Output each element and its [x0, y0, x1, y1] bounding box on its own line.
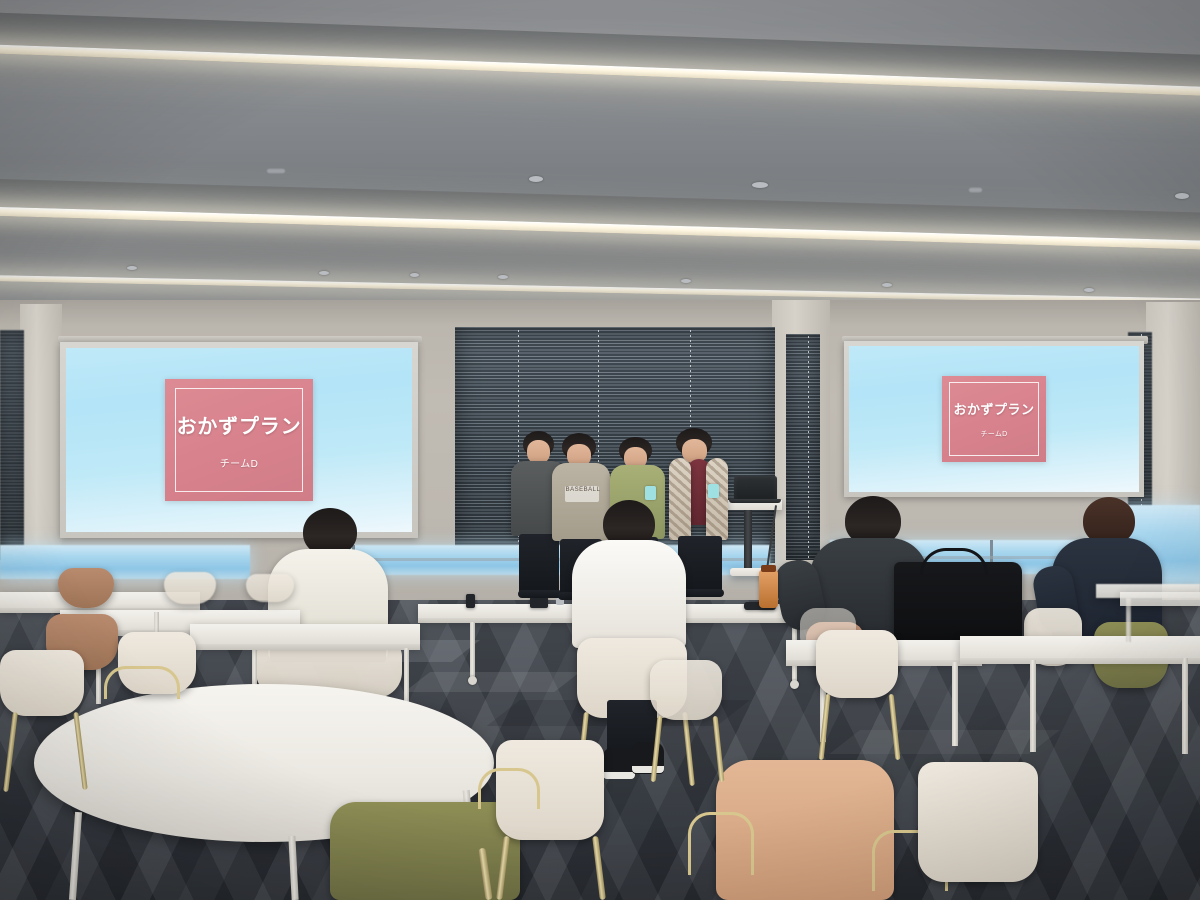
ceiling-downlight: [882, 283, 892, 287]
table-right-edge: [1120, 592, 1200, 606]
wall-pier-left: [20, 304, 62, 570]
table-caster: [790, 680, 799, 689]
table-leg: [952, 662, 958, 746]
table-leg: [1182, 658, 1188, 754]
ceiling-downlight: [410, 273, 419, 277]
shoe-sole: [632, 766, 664, 773]
chair-armrest: [478, 768, 540, 809]
left-projection-screen: おかずプラン チームD: [60, 342, 418, 538]
right-screen-surface: おかずプラン チームD: [849, 346, 1139, 492]
device-on-table: [530, 597, 548, 608]
right-projection-screen: おかずプラン チームD: [844, 341, 1144, 497]
chair-cream-right-1: [816, 630, 898, 698]
presenter-1-legs: [519, 534, 559, 594]
ceiling-downlight: [1175, 193, 1189, 199]
slide-title-right: おかずプラン: [953, 399, 1034, 418]
ceiling-sprinkler-head: [266, 168, 286, 174]
chair-armrest: [104, 666, 180, 699]
smartphone-on-table: [466, 594, 475, 608]
table-leg: [470, 622, 475, 678]
shoe-sole: [603, 772, 635, 779]
laptop-base: [729, 499, 781, 503]
chair-cream-rear: [246, 574, 294, 602]
ceiling-sprinkler-head: [968, 187, 983, 193]
wall-top-shadow: [0, 300, 1200, 326]
slide-card-right: おかずプラン チームD: [942, 376, 1046, 462]
blind-cord: [808, 336, 809, 558]
window-blinds-column: [786, 334, 820, 560]
ceiling-downlight: [681, 279, 691, 283]
chair-armrest: [688, 812, 754, 875]
slide-inner-border-left: おかずプラン チームD: [175, 388, 302, 493]
slide-subtitle-left: チームD: [220, 455, 259, 470]
table-caster: [468, 676, 477, 685]
slide-title-left: おかずプラン: [177, 410, 302, 439]
carpet-tile-accent: [404, 672, 580, 692]
carpet-tile-accent: [829, 730, 1060, 754]
ceiling-downlight: [127, 266, 137, 270]
ceiling-downlight: [319, 271, 329, 275]
chair-cream-far-left-rear: [164, 572, 216, 604]
conference-room-photo: おかずプラン チームD おかずプラン チームD: [0, 0, 1200, 900]
drink-bottle: [759, 570, 778, 608]
presenter-2-graphic-text: BASEBALL: [563, 486, 603, 494]
left-screen-surface: おかずプラン チームD: [66, 348, 412, 532]
chair-cream-right-2: [918, 762, 1038, 882]
ceiling-downlight: [498, 275, 508, 279]
window-blinds-left: [0, 330, 24, 560]
lectern-post: [744, 510, 752, 570]
chair-olive-front: [330, 802, 520, 900]
presenter-4-name-badge: [708, 484, 719, 498]
ceiling-downlight: [529, 176, 543, 182]
table-left-front: [190, 624, 420, 646]
chair-cream-left-1: [0, 650, 84, 716]
slide-card-left: おかずプラン チームD: [165, 379, 313, 501]
chair-cream-rear-center: [650, 660, 722, 720]
presenter-4-outer-shirt-left: [669, 458, 691, 540]
slide-inner-border-right: おかずプラン チームD: [949, 382, 1038, 456]
table-right-front-2: [960, 636, 1200, 660]
audience-2-torso: [572, 540, 686, 648]
slide-subtitle-right: チームD: [981, 429, 1008, 439]
presenter-4-outer-shirt-right: [706, 458, 728, 540]
window-strip-left: [0, 545, 250, 579]
ceiling-downlight: [1084, 288, 1094, 292]
ceiling-downlight: [752, 182, 768, 188]
presenter-1-shoes: [518, 590, 562, 598]
table-edge: [960, 658, 1200, 664]
presenter-3-name-badge: [645, 486, 656, 500]
bottle-cap: [761, 565, 776, 572]
presenter-2-torso: [552, 463, 610, 541]
table-edge: [190, 644, 420, 650]
table-leg: [1030, 660, 1036, 752]
